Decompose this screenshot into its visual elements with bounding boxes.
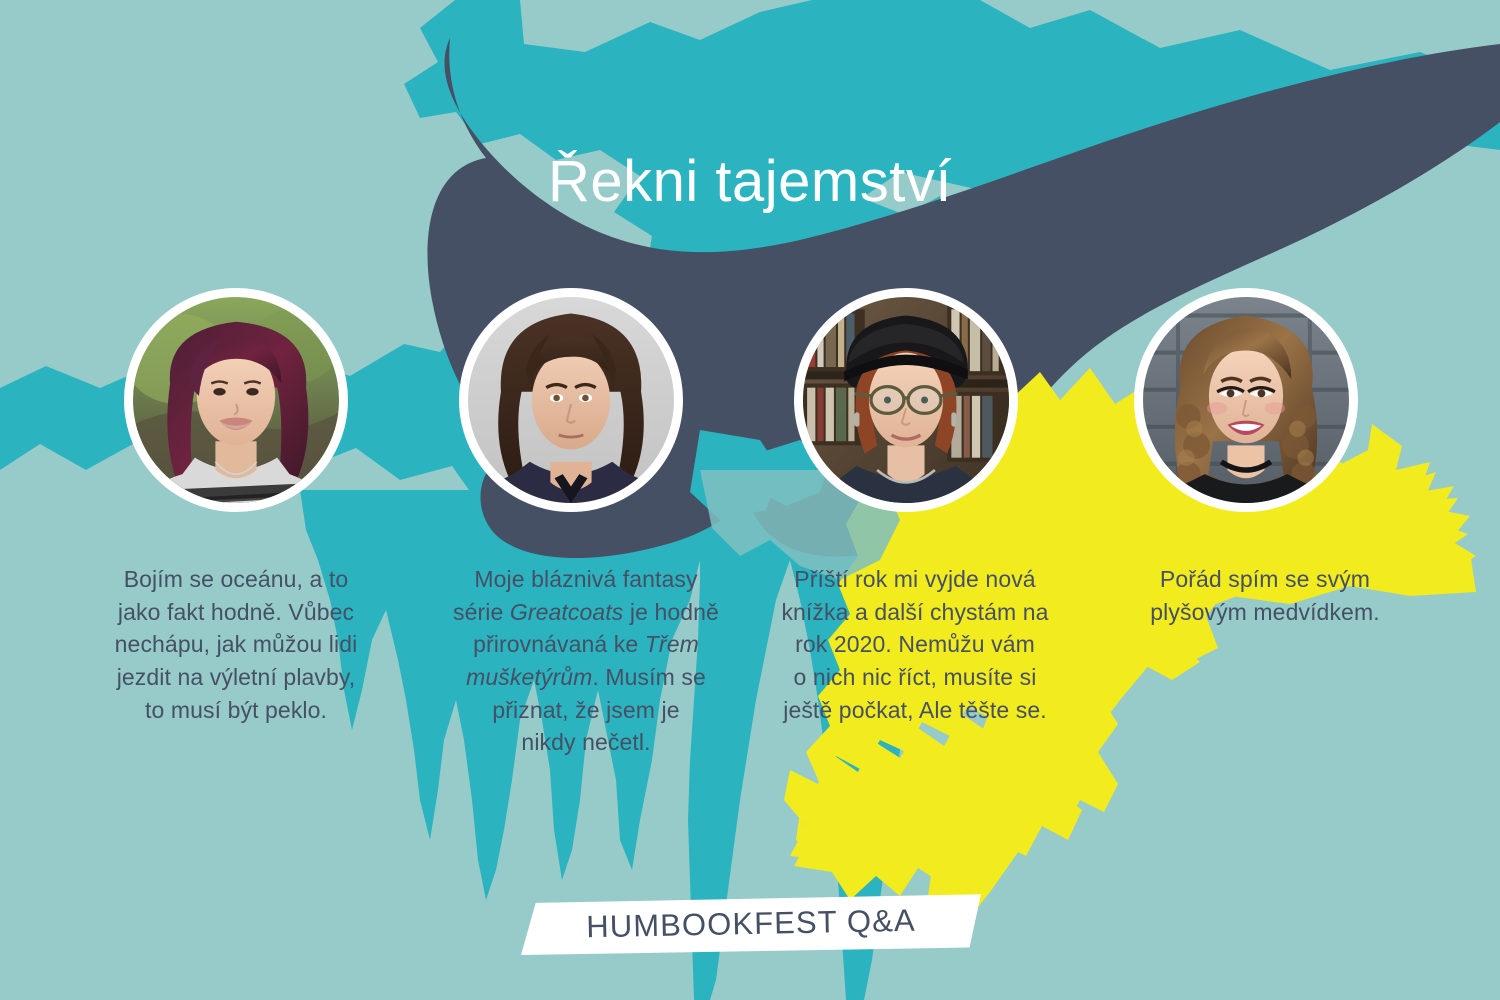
portrait-woman-purple-hair[interactable] [124,288,348,512]
speaker-caption-2: Moje bláznivá fantasy série Greatcoats j… [436,563,736,759]
caption-line: nikdy nečetl. [436,726,736,759]
speaker-caption-3: Příští rok mi vyjde nová knížka a další … [760,563,1070,726]
caption-line: o nich nic říct, musíte si [760,661,1070,694]
page-title: Řekni tajemství [0,152,1500,213]
caption-line: knížka a další chystám na [760,596,1070,629]
caption-emphasis: Třem [645,631,699,657]
caption-line: plyšovým medvídkem. [1100,596,1430,629]
caption-line: Moje bláznivá fantasy [436,563,736,596]
portrait-woman-curly-hair[interactable] [1134,288,1358,512]
caption-text: . Musím se [592,664,705,690]
caption-line: Příští rok mi vyjde nová [760,563,1070,596]
portrait-man-long-hair[interactable] [459,288,683,512]
speaker-caption-4: Pořád spím se svým plyšovým medvídkem. [1100,563,1430,628]
caption-line: ještě počkat, Ale těšte se. [760,694,1070,727]
footer-banner-label: HUMBOOKFEST Q&A [520,888,981,959]
caption-line: přiznat, že jsem je [436,694,736,727]
caption-line: série Greatcoats je hodně [436,596,736,629]
footer-banner: HUMBOOKFEST Q&A [521,893,981,955]
caption-emphasis: Greatcoats [510,599,624,625]
caption-line: Pořád spím se svým [1100,563,1430,596]
caption-line: přirovnávaná ke Třem [436,628,736,661]
caption-text: přirovnávaná ke [473,631,645,657]
caption-text: je hodně [623,599,719,625]
portrait-woman-cap-glasses[interactable] [794,288,1018,512]
caption-line: jako fakt hodně. Vůbec [96,596,376,629]
caption-line: mušketýrům. Musím se [436,661,736,694]
caption-line: rok 2020. Nemůžu vám [760,628,1070,661]
caption-emphasis: mušketýrům [466,664,592,690]
caption-text: série [453,599,510,625]
caption-line: jezdit na výletní plavby, [96,661,376,694]
speaker-caption-1: Bojím se oceánu, a to jako fakt hodně. V… [96,563,376,726]
caption-line: nechápu, jak můžou lidi [96,628,376,661]
poster-canvas: Řekni tajemství [0,0,1500,1000]
caption-line: to musí být peklo. [96,694,376,727]
caption-line: Bojím se oceánu, a to [96,563,376,596]
